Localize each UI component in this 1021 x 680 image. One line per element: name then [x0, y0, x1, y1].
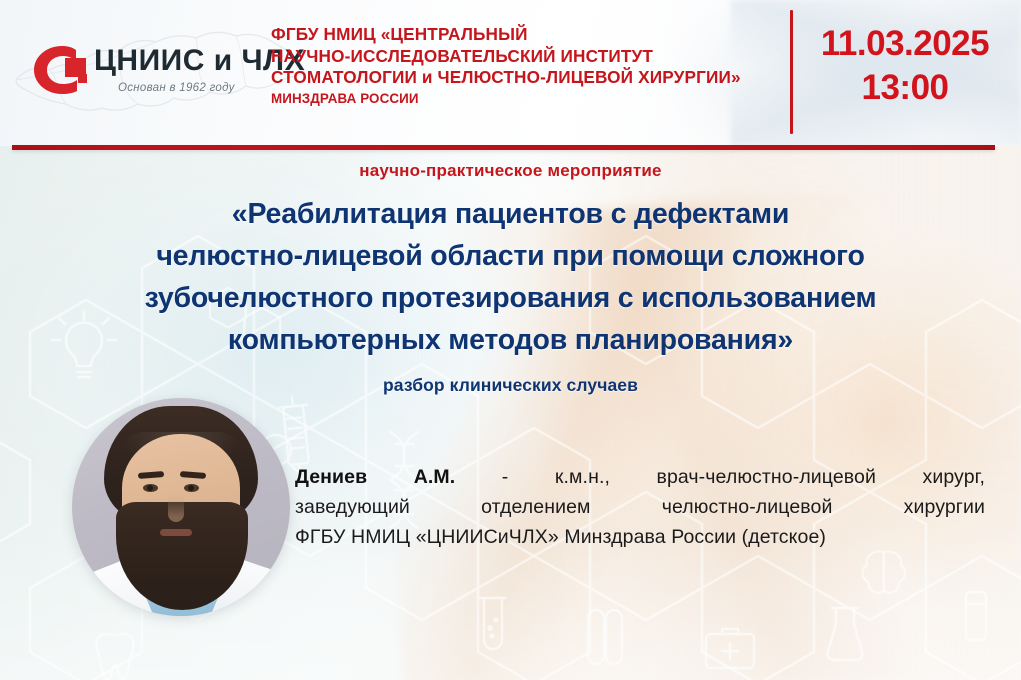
speaker-line-3: ФГБУ НМИЦ «ЦНИИСиЧЛХ» Минздрава России (…	[295, 522, 985, 552]
poster-header: ЦНИИС и ЧЛХ Основан в 1962 году ФГБУ НМИ…	[0, 0, 1021, 146]
portrait-nose	[168, 496, 184, 522]
event-kicker: научно-практическое мероприятие	[0, 161, 1021, 181]
announcement-poster: ЦНИИС и ЧЛХ Основан в 1962 году ФГБУ НМИ…	[0, 0, 1021, 680]
event-time: 13:00	[800, 66, 1010, 110]
logo-tagline: Основан в 1962 году	[118, 82, 235, 94]
event-title: «Реабилитация пациентов с дефектами челю…	[40, 193, 981, 361]
event-title-line-2: челюстно-лицевой области при помощи слож…	[40, 235, 981, 277]
portrait-eye-right	[184, 484, 199, 492]
organization-line-3: СТОМАТОЛОГИИ и ЧЕЛЮСТНО-ЛИЦЕВОЙ ХИРУРГИИ…	[271, 67, 776, 89]
institute-logo: ЦНИИС и ЧЛХ Основан в 1962 году	[32, 42, 292, 108]
speaker-line-2: заведующий отделением челюстно-лицевой х…	[295, 492, 985, 522]
organization-name: ФГБУ НМИЦ «ЦЕНТРАЛЬНЫЙ НАУЧНО-ИССЛЕДОВАТ…	[271, 24, 776, 108]
event-date: 11.03.2025	[800, 22, 1010, 66]
organization-ministry-line: МИНЗДРАВА РОССИИ	[271, 89, 776, 108]
event-title-line-3: зубочелюстного протезирования с использо…	[40, 277, 981, 319]
event-title-line-1: «Реабилитация пациентов с дефектами	[40, 193, 981, 235]
event-title-line-4: компьютерных методов планирования»	[40, 319, 981, 361]
cniis-c-mark-icon	[32, 44, 94, 96]
organization-line-2: НАУЧНО-ИССЛЕДОВАТЕЛЬСКИЙ ИНСТИТУТ	[271, 46, 776, 68]
speaker-dash: -	[455, 466, 555, 488]
portrait-mouth	[160, 529, 192, 536]
speaker-line-1: Дениев А.М. - к.м.н., врач-челюстно-лице…	[295, 462, 985, 492]
event-subkicker: разбор клинических случаев	[0, 375, 1021, 396]
speaker-name: Дениев А.М.	[295, 466, 455, 488]
speaker-details: Дениев А.М. - к.м.н., врач-челюстно-лице…	[295, 462, 985, 552]
speaker-portrait	[72, 398, 290, 616]
event-datetime: 11.03.2025 13:00	[800, 22, 1010, 110]
speaker-credentials: к.м.н., врач-челюстно-лицевой хирург,	[555, 466, 985, 488]
header-vertical-divider	[790, 10, 793, 134]
header-red-rule	[12, 145, 995, 150]
organization-line-1: ФГБУ НМИЦ «ЦЕНТРАЛЬНЫЙ	[271, 24, 776, 46]
portrait-eye-left	[143, 484, 158, 492]
